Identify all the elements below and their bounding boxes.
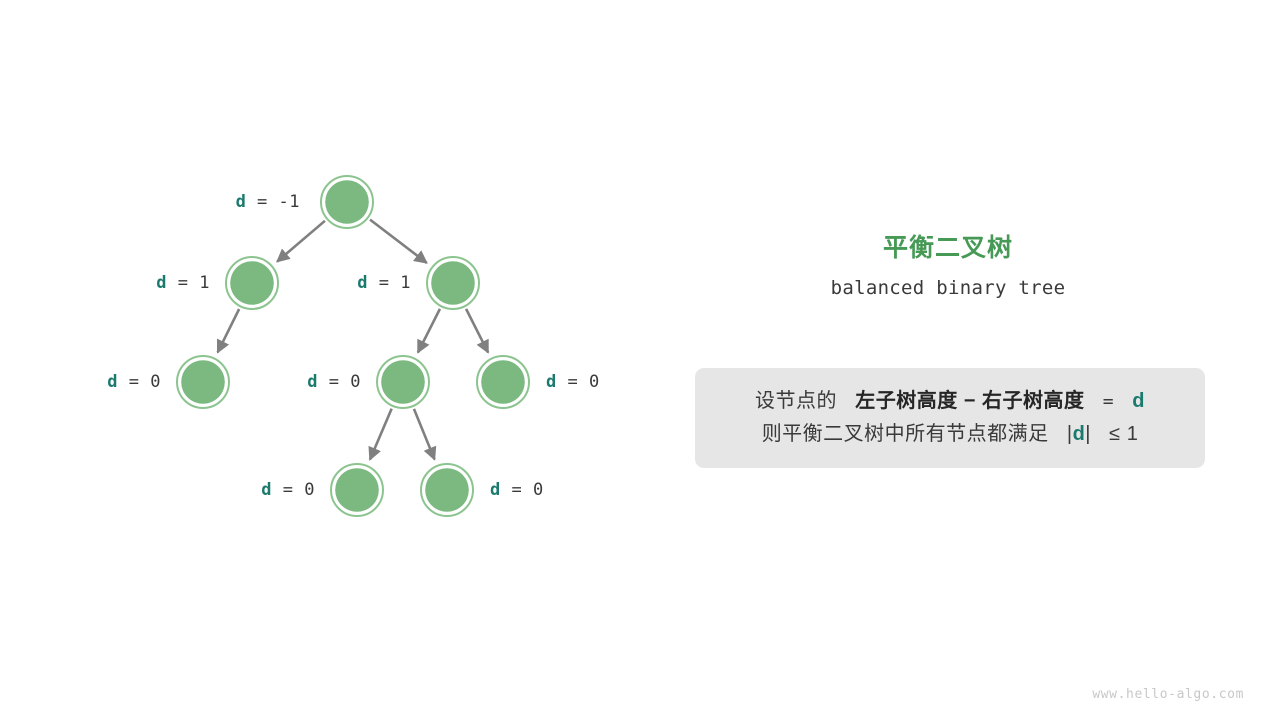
node-label-value: = 0 — [318, 372, 361, 392]
node-label-d: d — [307, 372, 318, 392]
tree-graphics — [0, 0, 660, 720]
node-label-d: d — [357, 273, 368, 293]
node-balance-label: d = 0 — [0, 374, 361, 391]
definition-line-1: 设节点的 左子树高度 − 右子树高度 = d — [695, 385, 1205, 418]
relation-operator: ≤ 1 — [1109, 423, 1138, 445]
tree-nodes — [177, 176, 529, 516]
node-fill — [325, 180, 369, 224]
tree-edge — [414, 409, 435, 460]
node-fill — [431, 261, 475, 305]
node-label-value: = 0 — [501, 480, 544, 500]
tree-edge — [370, 409, 392, 460]
node-balance-label: d = 1 — [0, 275, 411, 292]
node-balance-label: d = 0 — [490, 482, 544, 499]
page-title: 平衡二叉树 — [660, 228, 1236, 264]
tree-edge — [418, 309, 440, 353]
right-subtree-height-term: 右子树高度 — [982, 390, 1085, 412]
node-label-d: d — [236, 192, 247, 212]
node-fill — [381, 360, 425, 404]
left-subtree-height-term: 左子树高度 — [855, 390, 958, 412]
tree-node[interactable] — [421, 464, 473, 516]
watermark: www.hello-algo.com — [1092, 687, 1244, 702]
tree-node[interactable] — [427, 257, 479, 309]
tree-node[interactable] — [377, 356, 429, 408]
tree-edges — [218, 220, 488, 460]
binary-tree-diagram: d = -1d = 1d = 1d = 0d = 0d = 0d = 0d = … — [0, 0, 660, 720]
d-variable: d — [1132, 390, 1145, 412]
definition-prefix: 设节点的 — [755, 390, 837, 412]
node-label-d: d — [261, 480, 272, 500]
tree-edge — [370, 220, 427, 263]
node-fill — [481, 360, 525, 404]
node-fill — [425, 468, 469, 512]
equals-operator: = — [1103, 391, 1114, 412]
node-label-value: = -1 — [246, 192, 300, 212]
d-variable-abs: d — [1073, 423, 1086, 445]
condition-prefix: 则平衡二叉树中所有节点都满足 — [762, 423, 1049, 445]
node-label-d: d — [490, 480, 501, 500]
info-panel: 平衡二叉树 balanced binary tree 设节点的 左子树高度 − … — [660, 0, 1280, 720]
tree-edge — [466, 309, 488, 353]
tree-edge — [277, 221, 325, 262]
tree-node[interactable] — [321, 176, 373, 228]
definition-box: 设节点的 左子树高度 − 右子树高度 = d 则平衡二叉树中所有节点都满足 |d… — [695, 368, 1205, 468]
diagram-canvas: d = -1d = 1d = 1d = 0d = 0d = 0d = 0d = … — [0, 0, 1280, 720]
node-label-value: = 0 — [272, 480, 315, 500]
tree-node[interactable] — [331, 464, 383, 516]
node-balance-label: d = 0 — [546, 374, 600, 391]
abs-bar-close: | — [1085, 423, 1091, 445]
node-label-value: = 1 — [368, 273, 411, 293]
node-balance-label: d = -1 — [0, 194, 300, 211]
minus-operator: − — [964, 390, 976, 412]
node-label-d: d — [546, 372, 557, 392]
page-subtitle: balanced binary tree — [660, 277, 1236, 299]
node-balance-label: d = 0 — [0, 482, 315, 499]
tree-node[interactable] — [477, 356, 529, 408]
node-label-value: = 0 — [557, 372, 600, 392]
node-fill — [335, 468, 379, 512]
tree-edge — [218, 309, 239, 352]
definition-line-2: 则平衡二叉树中所有节点都满足 |d| ≤ 1 — [695, 418, 1205, 451]
